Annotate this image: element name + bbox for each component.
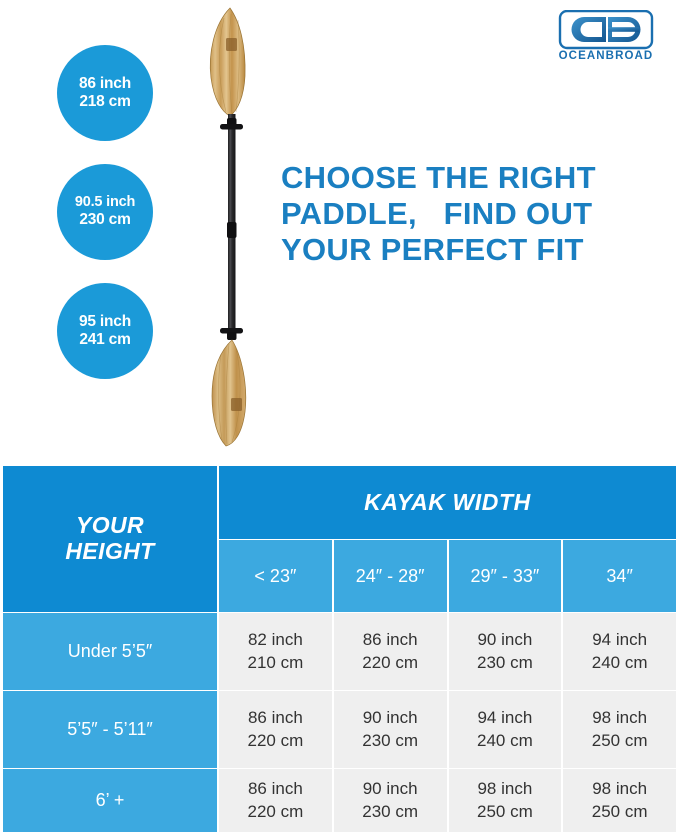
cell-inch: 98 inch	[592, 707, 647, 730]
table-header: YOUR HEIGHT KAYAK WIDTH < 23″ 24″ - 28″ …	[3, 466, 676, 612]
cell-inch: 98 inch	[477, 778, 532, 801]
paddle-center-joint	[227, 222, 237, 238]
headline-line-2: PADDLE, FIND OUT	[281, 196, 661, 232]
cell-inch: 94 inch	[592, 629, 647, 652]
table-cell: 86 inch 220 cm	[219, 691, 332, 768]
table-row: Under 5’5″ 82 inch 210 cm 86 inch 220 cm…	[3, 613, 676, 690]
cell-cm: 250 cm	[592, 730, 648, 753]
size-bubble-cm: 241 cm	[79, 331, 130, 349]
cell-cm: 250 cm	[477, 801, 533, 824]
paddle-size-chart-infographic: OCEANBROAD 86 inch 218 cm 90.5 inch 230 …	[0, 0, 679, 835]
size-bubble-cm: 218 cm	[79, 93, 130, 111]
table-row: 5’5″ - 5’11″ 86 inch 220 cm 90 inch 230 …	[3, 691, 676, 768]
logo-wordmark: OCEANBROAD	[559, 50, 654, 62]
table-cell: 82 inch 210 cm	[219, 613, 332, 690]
kayak-width-subheader-row: < 23″ 24″ - 28″ 29″ - 33″ 34″	[219, 540, 676, 612]
column-header-your-height: YOUR HEIGHT	[3, 466, 217, 612]
cell-cm: 230 cm	[477, 652, 533, 675]
cell-cm: 240 cm	[477, 730, 533, 753]
cell-cm: 250 cm	[592, 801, 648, 824]
table-cell: 98 inch 250 cm	[449, 769, 562, 832]
cell-inch: 86 inch	[248, 707, 303, 730]
row-cells: 82 inch 210 cm 86 inch 220 cm 90 inch 23…	[219, 613, 676, 690]
size-bubble-cm: 230 cm	[79, 211, 130, 229]
row-label-height: 6’ +	[3, 769, 217, 832]
paddle-blade-bottom	[212, 340, 246, 446]
cell-inch: 90 inch	[363, 707, 418, 730]
subheader-width-2: 29″ - 33″	[449, 540, 562, 612]
table-cell: 86 inch 220 cm	[219, 769, 332, 832]
size-chart-table: YOUR HEIGHT KAYAK WIDTH < 23″ 24″ - 28″ …	[3, 466, 676, 832]
subheader-width-0: < 23″	[219, 540, 332, 612]
row-cells: 86 inch 220 cm 90 inch 230 cm 94 inch 24…	[219, 691, 676, 768]
cell-inch: 90 inch	[477, 629, 532, 652]
page-title: CHOOSE THE RIGHT PADDLE, FIND OUT YOUR P…	[281, 160, 661, 268]
subheader-width-1: 24″ - 28″	[334, 540, 447, 612]
table-cell: 98 inch 250 cm	[563, 769, 676, 832]
cell-inch: 86 inch	[248, 778, 303, 801]
subheader-width-3: 34″	[563, 540, 676, 612]
size-bubble-86: 86 inch 218 cm	[57, 45, 153, 141]
row-label-height: 5’5″ - 5’11″	[3, 691, 217, 768]
oceanbroad-logo: OCEANBROAD	[558, 10, 654, 62]
row-label-height: Under 5’5″	[3, 613, 217, 690]
table-cell: 90 inch 230 cm	[449, 613, 562, 690]
your-height-line-1: YOUR	[65, 513, 154, 539]
cell-inch: 90 inch	[363, 778, 418, 801]
cell-cm: 230 cm	[362, 801, 418, 824]
size-bubble-inch: 95 inch	[79, 313, 131, 331]
paddle-logo-stamp-top	[226, 38, 237, 51]
headline-line-1: CHOOSE THE RIGHT	[281, 160, 661, 196]
cell-inch: 82 inch	[248, 629, 303, 652]
cell-cm: 220 cm	[362, 652, 418, 675]
paddle-ferrule-bottom	[227, 332, 237, 340]
your-height-line-2: HEIGHT	[65, 539, 154, 565]
cell-inch: 94 inch	[477, 707, 532, 730]
paddle-logo-stamp-bottom	[231, 398, 242, 411]
paddle-blade-top	[210, 8, 245, 116]
cell-cm: 220 cm	[248, 801, 304, 824]
column-header-kayak-width: KAYAK WIDTH	[219, 466, 676, 539]
row-cells: 86 inch 220 cm 90 inch 230 cm 98 inch 25…	[219, 769, 676, 832]
table-cell: 98 inch 250 cm	[563, 691, 676, 768]
cell-cm: 230 cm	[362, 730, 418, 753]
headline-line-3: YOUR PERFECT FIT	[281, 232, 661, 268]
cell-cm: 240 cm	[592, 652, 648, 675]
size-bubble-90-5: 90.5 inch 230 cm	[57, 164, 153, 260]
cell-cm: 220 cm	[248, 730, 304, 753]
cell-inch: 98 inch	[592, 778, 647, 801]
table-cell: 90 inch 230 cm	[334, 691, 447, 768]
size-bubble-inch: 90.5 inch	[75, 194, 135, 211]
cell-inch: 86 inch	[363, 629, 418, 652]
kayak-paddle-image	[186, 0, 290, 450]
table-cell: 86 inch 220 cm	[334, 613, 447, 690]
table-cell: 94 inch 240 cm	[449, 691, 562, 768]
paddle-drip-ring-top	[220, 124, 243, 130]
table-cell: 90 inch 230 cm	[334, 769, 447, 832]
size-bubble-95: 95 inch 241 cm	[57, 283, 153, 379]
cell-cm: 210 cm	[248, 652, 304, 675]
table-row: 6’ + 86 inch 220 cm 90 inch 230 cm 98 in…	[3, 769, 676, 832]
table-cell: 94 inch 240 cm	[563, 613, 676, 690]
size-bubble-inch: 86 inch	[79, 75, 131, 93]
